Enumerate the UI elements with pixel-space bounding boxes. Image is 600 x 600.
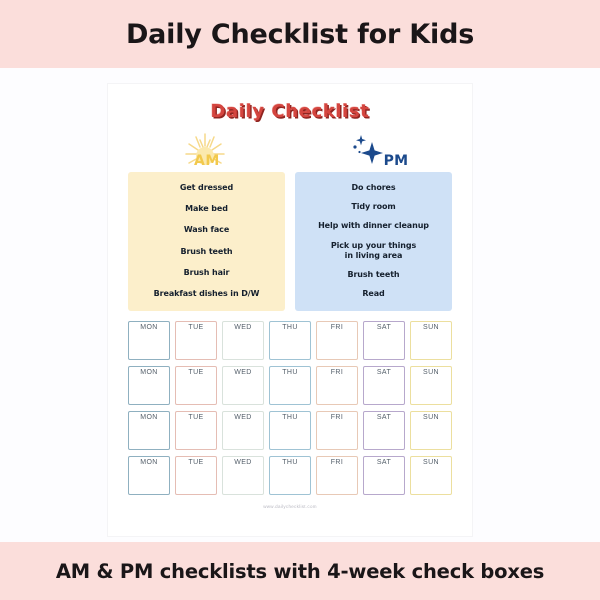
day-checkbox-fri[interactable]: FRI — [316, 411, 358, 450]
day-checkbox-sat[interactable]: SAT — [363, 366, 405, 405]
day-label: WED — [234, 324, 252, 331]
pm-task-panel: Do choresTidy roomHelp with dinner clean… — [295, 172, 452, 311]
task-panels: Get dressedMake bedWash faceBrush teethB… — [108, 172, 472, 311]
day-label: FRI — [331, 459, 343, 466]
page-title: Daily Checklist for Kids — [126, 19, 474, 50]
day-label: SUN — [423, 459, 439, 466]
bottom-banner: AM & PM checklists with 4-week check box… — [0, 542, 600, 600]
day-label: WED — [234, 459, 252, 466]
page-subtitle: AM & PM checklists with 4-week check box… — [56, 560, 544, 583]
task-item: Brush teeth — [347, 268, 399, 282]
day-label: THU — [282, 459, 298, 466]
day-checkbox-thu[interactable]: THU — [269, 321, 311, 360]
task-item: Wash face — [184, 223, 229, 237]
day-label: SUN — [423, 414, 439, 421]
task-item: Make bed — [185, 202, 228, 216]
grid-week-row: MONTUEWEDTHUFRISATSUN — [128, 411, 452, 450]
day-checkbox-mon[interactable]: MON — [128, 456, 170, 495]
grid-week-row: MONTUEWEDTHUFRISATSUN — [128, 321, 452, 360]
am-task-panel: Get dressedMake bedWash faceBrush teethB… — [128, 172, 285, 311]
day-label: SAT — [377, 369, 391, 376]
task-item: Help with dinner cleanup — [318, 219, 429, 233]
sheet-footer-url: www.dailychecklist.com — [108, 504, 472, 509]
day-label: SUN — [423, 369, 439, 376]
day-checkbox-fri[interactable]: FRI — [316, 366, 358, 405]
day-label: SAT — [377, 324, 391, 331]
sparkle-icon — [348, 130, 388, 170]
pm-section-label: PM — [303, 126, 453, 170]
day-label: FRI — [331, 324, 343, 331]
day-checkbox-fri[interactable]: FRI — [316, 456, 358, 495]
task-item: Tidy room — [351, 200, 395, 214]
am-label-text: AM — [194, 153, 220, 169]
day-checkbox-sun[interactable]: SUN — [410, 366, 452, 405]
am-section-label: AM — [130, 126, 280, 170]
day-label: MON — [140, 324, 158, 331]
day-label: TUE — [188, 414, 203, 421]
checklist-sheet: Daily Checklist — [108, 84, 472, 536]
day-checkbox-wed[interactable]: WED — [222, 366, 264, 405]
day-checkbox-wed[interactable]: WED — [222, 411, 264, 450]
day-checkbox-thu[interactable]: THU — [269, 456, 311, 495]
day-label: TUE — [188, 369, 203, 376]
day-checkbox-mon[interactable]: MON — [128, 411, 170, 450]
day-label: MON — [140, 369, 158, 376]
day-label: TUE — [188, 459, 203, 466]
day-label: MON — [140, 459, 158, 466]
day-label: SAT — [377, 459, 391, 466]
grid-week-row: MONTUEWEDTHUFRISATSUN — [128, 366, 452, 405]
day-checkbox-tue[interactable]: TUE — [175, 321, 217, 360]
day-checkbox-wed[interactable]: WED — [222, 456, 264, 495]
day-checkbox-sun[interactable]: SUN — [410, 411, 452, 450]
day-label: WED — [234, 414, 252, 421]
listing-image: Daily Checklist for Kids Daily Checklist — [0, 0, 600, 600]
day-label: THU — [282, 414, 298, 421]
day-label: FRI — [331, 414, 343, 421]
day-checkbox-thu[interactable]: THU — [269, 411, 311, 450]
task-item: Do chores — [351, 181, 395, 195]
day-checkbox-tue[interactable]: TUE — [175, 411, 217, 450]
day-checkbox-tue[interactable]: TUE — [175, 456, 217, 495]
grid-week-row: MONTUEWEDTHUFRISATSUN — [128, 456, 452, 495]
task-item: Brush teeth — [180, 245, 232, 259]
task-item: Read — [362, 287, 384, 301]
day-checkbox-sat[interactable]: SAT — [363, 321, 405, 360]
day-checkbox-tue[interactable]: TUE — [175, 366, 217, 405]
day-checkbox-sat[interactable]: SAT — [363, 456, 405, 495]
day-label: SUN — [423, 324, 439, 331]
day-checkbox-fri[interactable]: FRI — [316, 321, 358, 360]
day-label: FRI — [331, 369, 343, 376]
day-checkbox-wed[interactable]: WED — [222, 321, 264, 360]
task-item: Brush hair — [184, 266, 230, 280]
day-checkbox-sun[interactable]: SUN — [410, 321, 452, 360]
day-label: TUE — [188, 324, 203, 331]
task-item: Pick up your thingsin living area — [331, 239, 416, 263]
day-checkbox-mon[interactable]: MON — [128, 321, 170, 360]
day-checkbox-thu[interactable]: THU — [269, 366, 311, 405]
day-label: SAT — [377, 414, 391, 421]
day-label: MON — [140, 414, 158, 421]
day-checkbox-mon[interactable]: MON — [128, 366, 170, 405]
section-labels-row: AM PM — [108, 126, 472, 170]
day-checkbox-sun[interactable]: SUN — [410, 456, 452, 495]
day-label: WED — [234, 369, 252, 376]
day-label: THU — [282, 324, 298, 331]
task-item: Breakfast dishes in D/W — [154, 287, 260, 301]
weekday-check-grid: MONTUEWEDTHUFRISATSUNMONTUEWEDTHUFRISATS… — [108, 321, 472, 495]
sheet-title: Daily Checklist — [108, 101, 472, 122]
top-banner: Daily Checklist for Kids — [0, 0, 600, 68]
day-label: THU — [282, 369, 298, 376]
day-checkbox-sat[interactable]: SAT — [363, 411, 405, 450]
task-item: Get dressed — [180, 181, 233, 195]
